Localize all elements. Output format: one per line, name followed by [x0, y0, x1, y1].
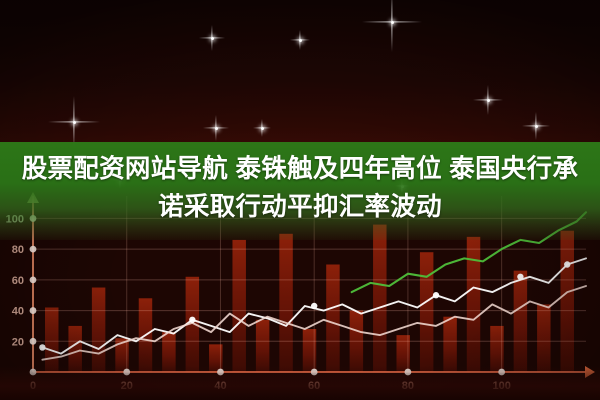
headline-line-2: 诺采取行动平抑汇率波动	[14, 188, 586, 226]
thumbnail-image: 20406080100020406080100 股票配资网站导航 泰铢触及四年高…	[0, 0, 600, 400]
background-bottom-fade	[0, 366, 600, 400]
headline-line-1: 股票配资网站导航 泰铢触及四年高位 泰国央行承	[14, 150, 586, 188]
headline-text: 股票配资网站导航 泰铢触及四年高位 泰国央行承 诺采取行动平抑汇率波动	[0, 150, 600, 226]
